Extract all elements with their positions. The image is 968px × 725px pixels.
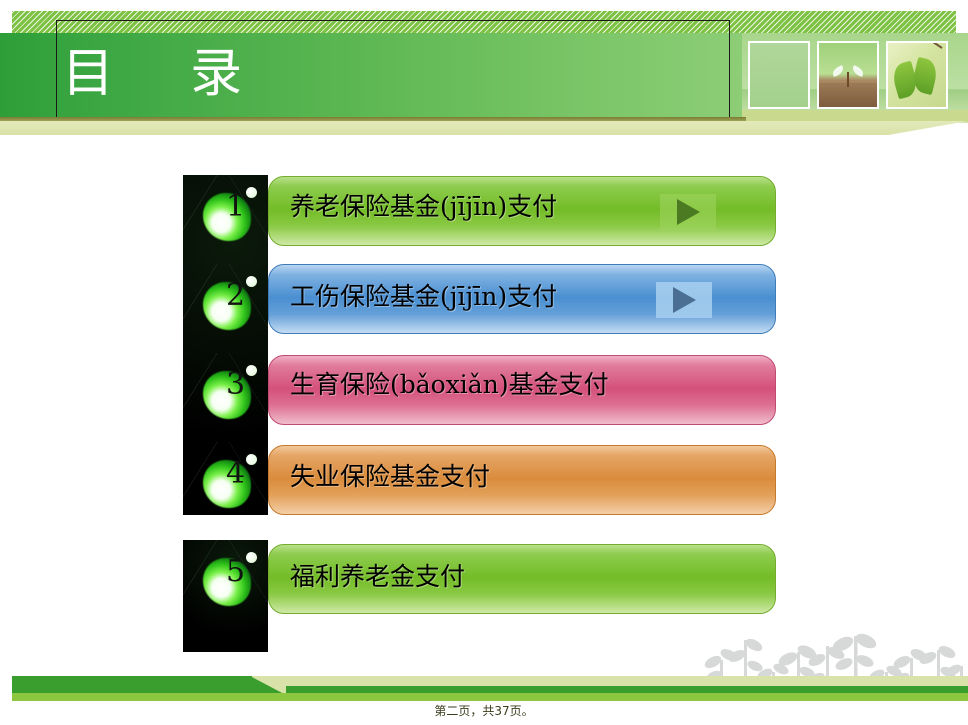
photo-cell: 3	[183, 353, 268, 442]
blank-panel-icon	[748, 41, 810, 109]
photo-cell: 4	[183, 442, 268, 515]
photo-strip-upper: 1 2 3 4	[183, 175, 268, 515]
glow-dot-icon	[246, 454, 257, 465]
agenda-item-5-label: 福利养老金支付	[290, 560, 635, 594]
agenda-item-4-label: 失业保险基金支付	[290, 460, 635, 494]
item-number: 3	[226, 370, 245, 400]
item-number: 5	[226, 557, 245, 587]
footer-bar-light-strip	[12, 693, 968, 701]
header-cream-band	[0, 121, 880, 135]
agenda-item-1-label: 养老保险基金(jījīn)支付	[290, 190, 620, 224]
sprout-photo-icon	[817, 41, 879, 109]
glow-dot-icon	[246, 552, 257, 563]
play-icon	[673, 287, 696, 313]
photo-cell: 1	[183, 175, 268, 264]
agenda-item-2-label: 工伤保险基金(jījīn)支付	[290, 280, 630, 314]
photo-cell: 5	[183, 540, 268, 629]
play-icon	[677, 199, 700, 225]
glow-dot-icon	[246, 276, 257, 287]
header-thumbnail-group	[748, 41, 956, 109]
photo-strip-lower: 5	[183, 540, 268, 652]
glow-dot-icon	[246, 365, 257, 376]
play-button-2[interactable]	[656, 282, 712, 318]
agenda-list: 1 2 3 4 5 养老保险基金(jījīn)支付 工伤保险基金(	[0, 140, 968, 640]
item-number: 4	[226, 459, 245, 489]
photo-cell: 2	[183, 264, 268, 353]
play-button-1[interactable]	[660, 194, 716, 230]
glow-dot-icon	[246, 187, 257, 198]
page-number-note: 第二页，共37页。	[0, 703, 968, 719]
slide-header: 目 录	[0, 0, 968, 140]
page-title: 目 录	[62, 44, 244, 104]
header-cream-band-taper	[866, 121, 968, 135]
item-number: 2	[226, 281, 245, 311]
item-number: 1	[226, 192, 245, 222]
leaf-photo-icon	[886, 41, 948, 109]
agenda-item-3-label: 生育保险(bǎoxiǎn)基金支付	[290, 368, 635, 402]
